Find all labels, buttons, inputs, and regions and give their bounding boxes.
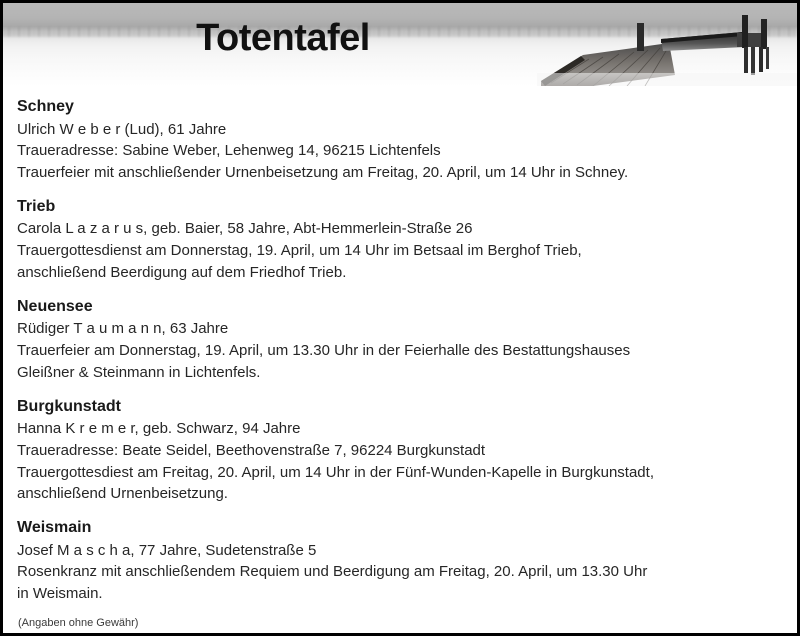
notice-place: Neuensee [17, 296, 783, 318]
notice-entry: Neuensee Rüdiger T a u m a n n, 63 Jahre… [17, 296, 783, 384]
notice-detail-line: Trauergottesdienst am Donnerstag, 19. Ap… [17, 240, 783, 262]
notice-person-line: Carola L a z a r u s, geb. Baier, 58 Jah… [17, 218, 783, 240]
notice-detail-line: Trauergottesdiest am Freitag, 20. April,… [17, 462, 783, 484]
notices-container: Schney Ulrich W e b e r (Lud), 61 Jahre … [3, 86, 797, 629]
jetty-photo-icon [537, 3, 797, 86]
notice-person-line: Hanna K r e m e r, geb. Schwarz, 94 Jahr… [17, 418, 783, 440]
disclaimer-note: (Angaben ohne Gewähr) [17, 617, 783, 629]
notice-entry: Weismain Josef M a s c h a, 77 Jahre, Su… [17, 517, 783, 605]
notice-place: Weismain [17, 517, 783, 539]
notice-detail-line: Gleißner & Steinmann in Lichtenfels. [17, 362, 783, 384]
page-title: Totentafel [3, 19, 563, 57]
notice-place: Burgkunstadt [17, 396, 783, 418]
notice-detail-line: Trauerfeier am Donnerstag, 19. April, um… [17, 340, 783, 362]
notice-entry: Trieb Carola L a z a r u s, geb. Baier, … [17, 196, 783, 284]
notice-detail-line: Trauerfeier mit anschließender Urnenbeis… [17, 162, 783, 184]
notice-detail-line: Traueradresse: Sabine Weber, Lehenweg 14… [17, 140, 783, 162]
notice-detail-line: Traueradresse: Beate Seidel, Beethovenst… [17, 440, 783, 462]
notice-detail-line: in Weismain. [17, 583, 783, 605]
notice-detail-line: anschließend Beerdigung auf dem Friedhof… [17, 262, 783, 284]
notice-person-line: Josef M a s c h a, 77 Jahre, Sudetenstra… [17, 540, 783, 562]
totentafel-page: Totentafel Schney Ulrich W e b e r (Lud)… [0, 0, 800, 636]
masthead-banner: Totentafel [3, 3, 797, 86]
notice-detail-line: anschließend Urnenbeisetzung. [17, 483, 783, 505]
notice-entry: Burgkunstadt Hanna K r e m e r, geb. Sch… [17, 396, 783, 506]
notice-entry: Schney Ulrich W e b e r (Lud), 61 Jahre … [17, 96, 783, 184]
notice-person-line: Ulrich W e b e r (Lud), 61 Jahre [17, 119, 783, 141]
notice-detail-line: Rosenkranz mit anschließendem Requiem un… [17, 561, 783, 583]
notice-place: Trieb [17, 196, 783, 218]
notice-place: Schney [17, 96, 783, 118]
notice-person-line: Rüdiger T a u m a n n, 63 Jahre [17, 318, 783, 340]
